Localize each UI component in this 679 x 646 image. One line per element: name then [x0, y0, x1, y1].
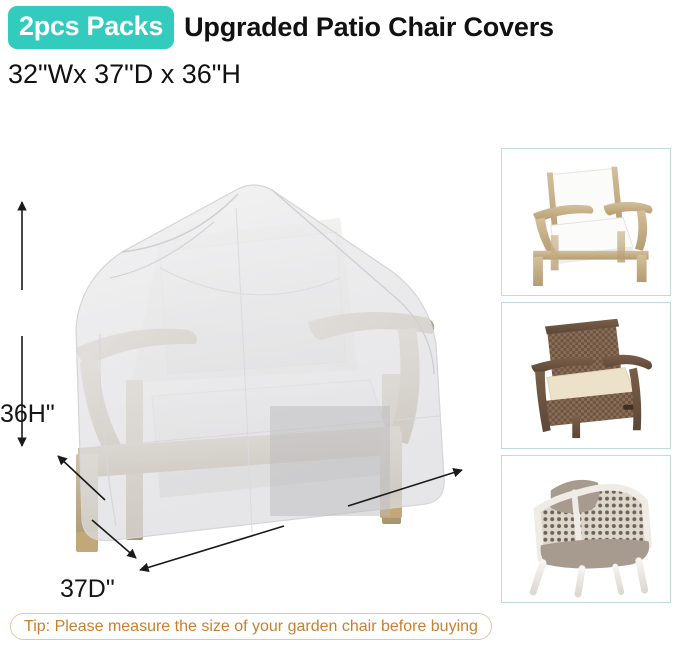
product-infographic: 2pcs Packs Upgraded Patio Chair Covers 3… — [0, 0, 679, 646]
depth-arrow-upper — [58, 456, 105, 500]
thumbnail-wooden-armchair-white-cushions[interactable] — [501, 148, 671, 296]
pack-count-badge: 2pcs Packs — [8, 6, 174, 49]
page-title: Upgraded Patio Chair Covers — [184, 12, 554, 43]
width-arrow-left — [140, 526, 284, 570]
thumbnail-gallery — [501, 148, 671, 603]
thumbnail-modern-white-taupe-mesh-armchair[interactable] — [501, 455, 671, 603]
title-row: 2pcs Packs Upgraded Patio Chair Covers — [8, 6, 554, 49]
dimensions-subtitle: 32"Wx 37"D x 36"H — [8, 59, 241, 90]
depth-arrow-lower — [92, 520, 136, 558]
header: 2pcs Packs Upgraded Patio Chair Covers 3… — [0, 0, 679, 108]
thumbnail-brown-rattan-wicker-armchair[interactable] — [501, 302, 671, 450]
measurement-tip-text: Tip: Please measure the size of your gar… — [24, 618, 478, 636]
main-illustration-stage: 36H" 37D" 32W" — [0, 108, 489, 600]
measurement-tip-banner: Tip: Please measure the size of your gar… — [10, 613, 492, 640]
depth-dimension-label: 37D" — [60, 575, 115, 604]
height-dimension-label: 36H" — [0, 400, 55, 429]
dimension-arrows — [0, 108, 489, 600]
width-arrow-right — [348, 470, 462, 506]
